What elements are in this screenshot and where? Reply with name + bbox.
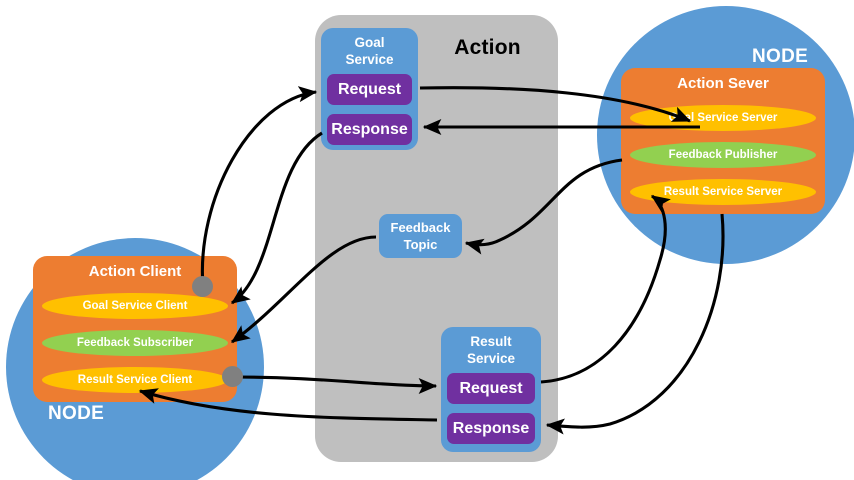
result-service-title-line1: Result <box>441 333 541 350</box>
pill-result-service-server[interactable]: Result Service Server <box>630 179 816 205</box>
result-service-request[interactable]: Request <box>447 373 535 404</box>
node-right-label: NODE <box>752 46 808 68</box>
result-service-response[interactable]: Response <box>447 413 535 444</box>
goal-service-box: Goal Service Request Response <box>321 28 418 150</box>
node-left-label: NODE <box>48 403 104 425</box>
pill-feedback-publisher[interactable]: Feedback Publisher <box>630 142 816 168</box>
action-container-label: Action <box>430 36 545 60</box>
result-service-title-line2: Service <box>441 350 541 367</box>
action-server-title: Action Sever <box>621 75 825 92</box>
diagram-canvas: Action NODE NODE Action Sever Goal Servi… <box>0 0 854 480</box>
result-service-box: Result Service Request Response <box>441 327 541 452</box>
pill-result-service-client[interactable]: Result Service Client <box>42 367 228 393</box>
pill-feedback-subscriber[interactable]: Feedback Subscriber <box>42 330 228 356</box>
pill-goal-service-server[interactable]: Goal Service Server <box>630 105 816 131</box>
goal-service-title-line2: Service <box>321 51 418 68</box>
goal-service-response[interactable]: Response <box>327 114 412 145</box>
feedback-topic-line1: Feedback <box>391 219 451 236</box>
action-server-box: Action Sever Goal Service Server Feedbac… <box>621 68 825 214</box>
goal-service-request[interactable]: Request <box>327 74 412 105</box>
arrow-goal-response-to-client <box>232 133 322 303</box>
goal-service-title: Goal Service <box>321 34 418 68</box>
result-service-title: Result Service <box>441 333 541 367</box>
feedback-topic-box[interactable]: Feedback Topic <box>379 214 462 258</box>
goal-service-title-line1: Goal <box>321 34 418 51</box>
connector-dot-goal-client <box>192 276 213 297</box>
connector-dot-result-client <box>222 366 243 387</box>
feedback-topic-line2: Topic <box>404 236 438 253</box>
